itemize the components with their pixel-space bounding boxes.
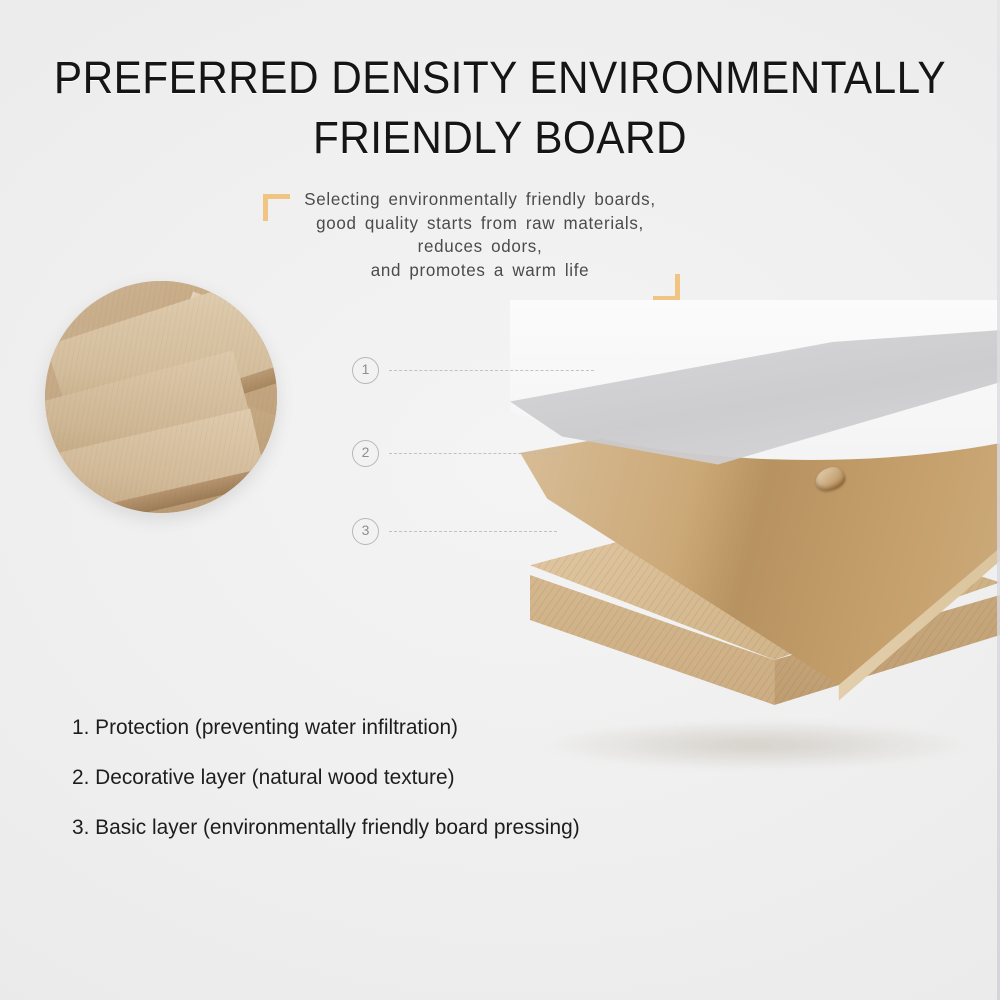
poster-root: PREFERRED DENSITY ENVIRONMENTALLY FRIEND… <box>0 0 1000 1000</box>
callout-3[interactable]: 3 <box>352 518 557 545</box>
photo-grain-overlay <box>45 281 277 513</box>
callout-2-number: 2 <box>352 440 379 467</box>
legend-item-1: 1. Protection (preventing water infiltra… <box>72 702 751 752</box>
mdf-board-photo <box>45 281 277 513</box>
callout-3-leader-line <box>389 531 557 532</box>
subtitle-line-1: Selecting environmentally friendly board… <box>262 188 699 212</box>
legend-item-3: 3. Basic layer (environmentally friendly… <box>72 802 751 852</box>
photo-scene <box>45 281 277 513</box>
page-title: PREFERRED DENSITY ENVIRONMENTALLY FRIEND… <box>30 48 970 168</box>
title-line-2: FRIENDLY BOARD <box>30 108 970 168</box>
callout-1-number: 1 <box>352 357 379 384</box>
callout-1-leader-line <box>389 370 594 371</box>
callout-3-number: 3 <box>352 518 379 545</box>
subtitle-line-3: reduces odors, <box>262 235 699 259</box>
title-line-1: PREFERRED DENSITY ENVIRONMENTALLY <box>54 52 946 103</box>
legend-list: 1. Protection (preventing water infiltra… <box>72 702 772 852</box>
subtitle-text: Selecting environmentally friendly board… <box>262 188 699 282</box>
callout-1[interactable]: 1 <box>352 357 594 384</box>
subtitle-block: Selecting environmentally friendly board… <box>255 188 705 282</box>
subtitle-line-2: good quality starts from raw materials, <box>262 212 699 236</box>
callout-2-leader-line <box>389 453 561 454</box>
legend-item-2: 2. Decorative layer (natural wood textur… <box>72 752 751 802</box>
subtitle-line-4: and promotes a warm life <box>262 259 699 283</box>
callout-2[interactable]: 2 <box>352 440 561 467</box>
